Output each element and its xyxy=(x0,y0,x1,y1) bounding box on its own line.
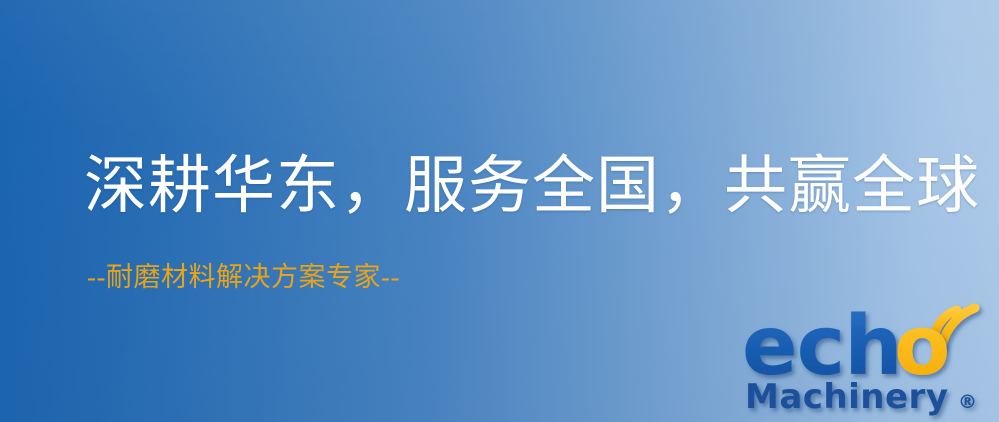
hero-banner: 深耕华东，服务全国，共赢全球 --耐磨材料解决方案专家-- xyxy=(0,0,999,422)
echo-machinery-logo: ech o Machinery ® xyxy=(742,296,994,418)
svg-text:Machinery: Machinery xyxy=(745,377,949,417)
registered-trademark-icon: ® xyxy=(958,391,977,413)
banner-headline: 深耕华东，服务全国，共赢全球 xyxy=(84,152,980,220)
logo-tagline: Machinery ® xyxy=(745,377,977,417)
banner-subtitle: --耐磨材料解决方案专家-- xyxy=(87,263,400,293)
logo-artwork: ech o Machinery ® xyxy=(742,296,994,418)
